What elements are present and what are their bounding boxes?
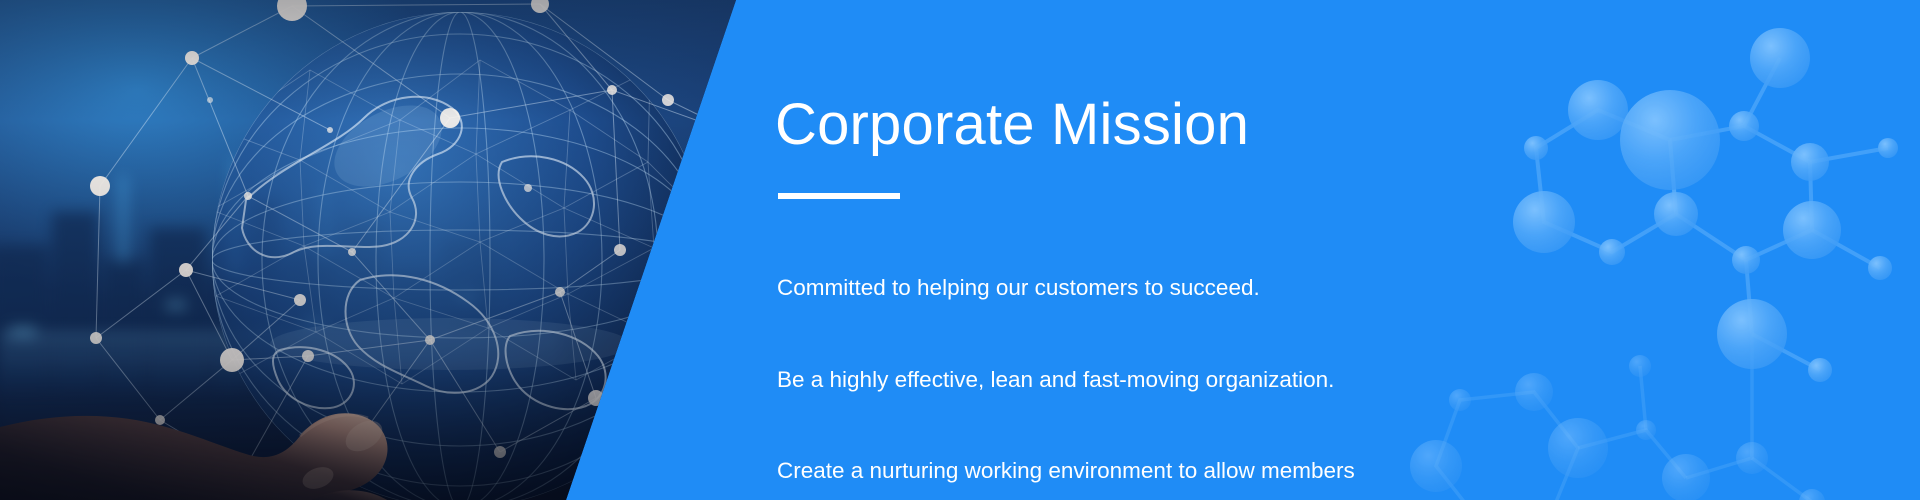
title-divider xyxy=(778,193,900,199)
mission-line-2: Be a highly effective, lean and fast-mov… xyxy=(777,365,1477,396)
page-title: Corporate Mission xyxy=(775,96,1249,154)
mission-line-1: Committed to helping our customers to su… xyxy=(777,273,1477,304)
mission-statement: Committed to helping our customers to su… xyxy=(777,212,1477,500)
mission-line-3: Create a nurturing working environment t… xyxy=(777,456,1477,487)
mission-content: Corporate Mission Committed to helping o… xyxy=(775,0,1475,500)
corporate-mission-banner: Corporate Mission Committed to helping o… xyxy=(0,0,1920,500)
